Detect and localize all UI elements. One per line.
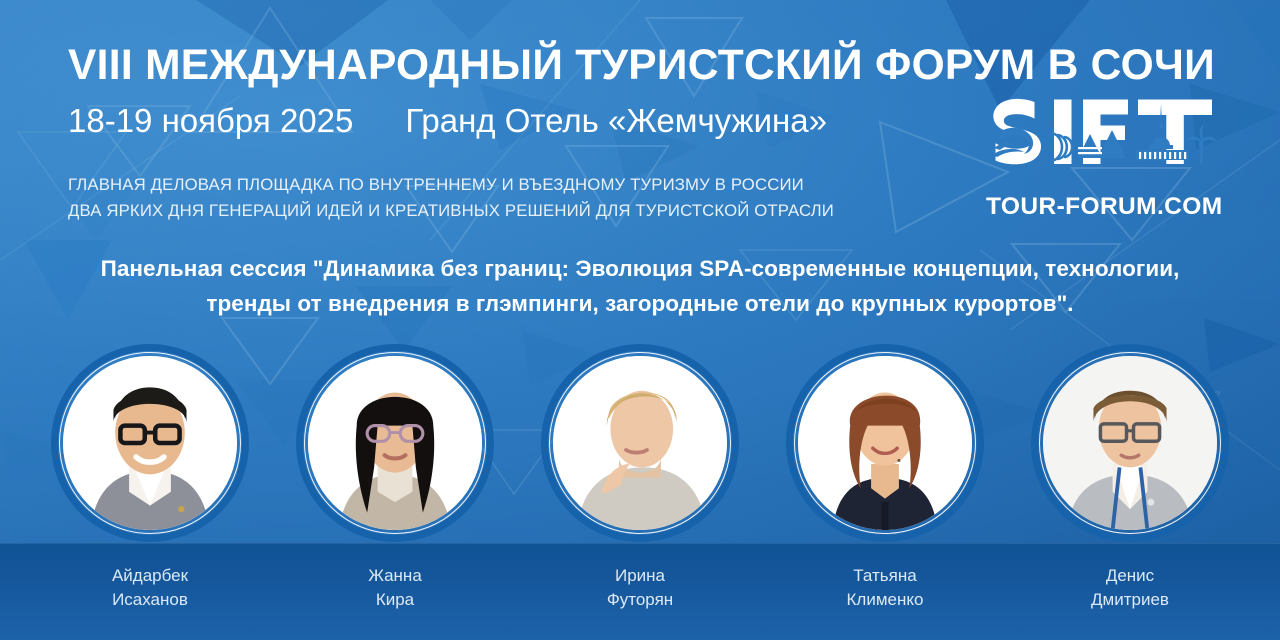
speaker-first-name: Жанна	[368, 564, 422, 588]
speaker-name: Айдарбек Исаханов	[112, 564, 188, 612]
speaker-last-name: Футорян	[607, 588, 673, 612]
speaker-name: Татьяна Клименко	[847, 564, 924, 612]
speaker-first-name: Денис	[1091, 564, 1169, 588]
portrait-icon-3	[553, 356, 727, 530]
portrait-icon-2	[308, 356, 482, 530]
event-details: 18-19 ноября 2025 Гранд Отель «Жемчужина…	[68, 103, 827, 139]
speaker-card: Денис Дмитриев	[1026, 344, 1234, 612]
speaker-card: Ирина Футорян	[536, 344, 744, 612]
portrait-icon-5	[1043, 356, 1217, 530]
avatar	[786, 344, 984, 542]
event-venue: Гранд Отель «Жемчужина»	[405, 103, 827, 139]
tagline-line-2: ДВА ЯРКИХ ДНЯ ГЕНЕРАЦИЙ ИДЕЙ И КРЕАТИВНЫ…	[68, 198, 834, 224]
speaker-last-name: Исаханов	[112, 588, 188, 612]
speaker-last-name: Кира	[368, 588, 422, 612]
speaker-name: Денис Дмитриев	[1091, 564, 1169, 612]
avatar-photo	[553, 356, 727, 530]
session-title-line-1: Панельная сессия "Динамика без границ: Э…	[64, 252, 1216, 287]
speaker-first-name: Татьяна	[847, 564, 924, 588]
speaker-list: Айдарбек Исаханов	[46, 344, 1234, 612]
page-title: VIII МЕЖДУНАРОДНЫЙ ТУРИСТСКИЙ ФОРУМ В СО…	[68, 44, 1228, 88]
speaker-card: Айдарбек Исаханов	[46, 344, 254, 612]
tagline-line-1: ГЛАВНАЯ ДЕЛОВАЯ ПЛОЩАДКА ПО ВНУТРЕННЕМУ …	[68, 172, 834, 198]
avatar-photo	[63, 356, 237, 530]
avatar	[1031, 344, 1229, 542]
event-tagline: ГЛАВНАЯ ДЕЛОВАЯ ПЛОЩАДКА ПО ВНУТРЕННЕМУ …	[68, 172, 834, 224]
logo-url: TOUR-FORUM.COM	[986, 193, 1218, 221]
session-title-line-2: тренды от внедрения в глэмпинги, загород…	[64, 287, 1216, 322]
speaker-card: Татьяна Клименко	[781, 344, 989, 612]
speaker-name: Ирина Футорян	[607, 564, 673, 612]
portrait-icon-1	[63, 356, 237, 530]
portrait-icon-4	[798, 356, 972, 530]
avatar	[541, 344, 739, 542]
event-dates: 18-19 ноября 2025	[68, 103, 353, 139]
speaker-last-name: Дмитриев	[1091, 588, 1169, 612]
sift-wordmark-icon	[986, 92, 1218, 192]
avatar	[51, 344, 249, 542]
speaker-first-name: Айдарбек	[112, 564, 188, 588]
event-poster: VIII МЕЖДУНАРОДНЫЙ ТУРИСТСКИЙ ФОРУМ В СО…	[0, 0, 1280, 640]
speaker-last-name: Клименко	[847, 588, 924, 612]
speaker-name: Жанна Кира	[368, 564, 422, 612]
session-title: Панельная сессия "Динамика без границ: Э…	[64, 252, 1216, 322]
speaker-first-name: Ирина	[607, 564, 673, 588]
speaker-card: Жанна Кира	[291, 344, 499, 612]
avatar	[296, 344, 494, 542]
avatar-photo	[798, 356, 972, 530]
avatar-photo	[1043, 356, 1217, 530]
sift-logo: TOUR-FORUM.COM	[986, 92, 1218, 224]
avatar-photo	[308, 356, 482, 530]
